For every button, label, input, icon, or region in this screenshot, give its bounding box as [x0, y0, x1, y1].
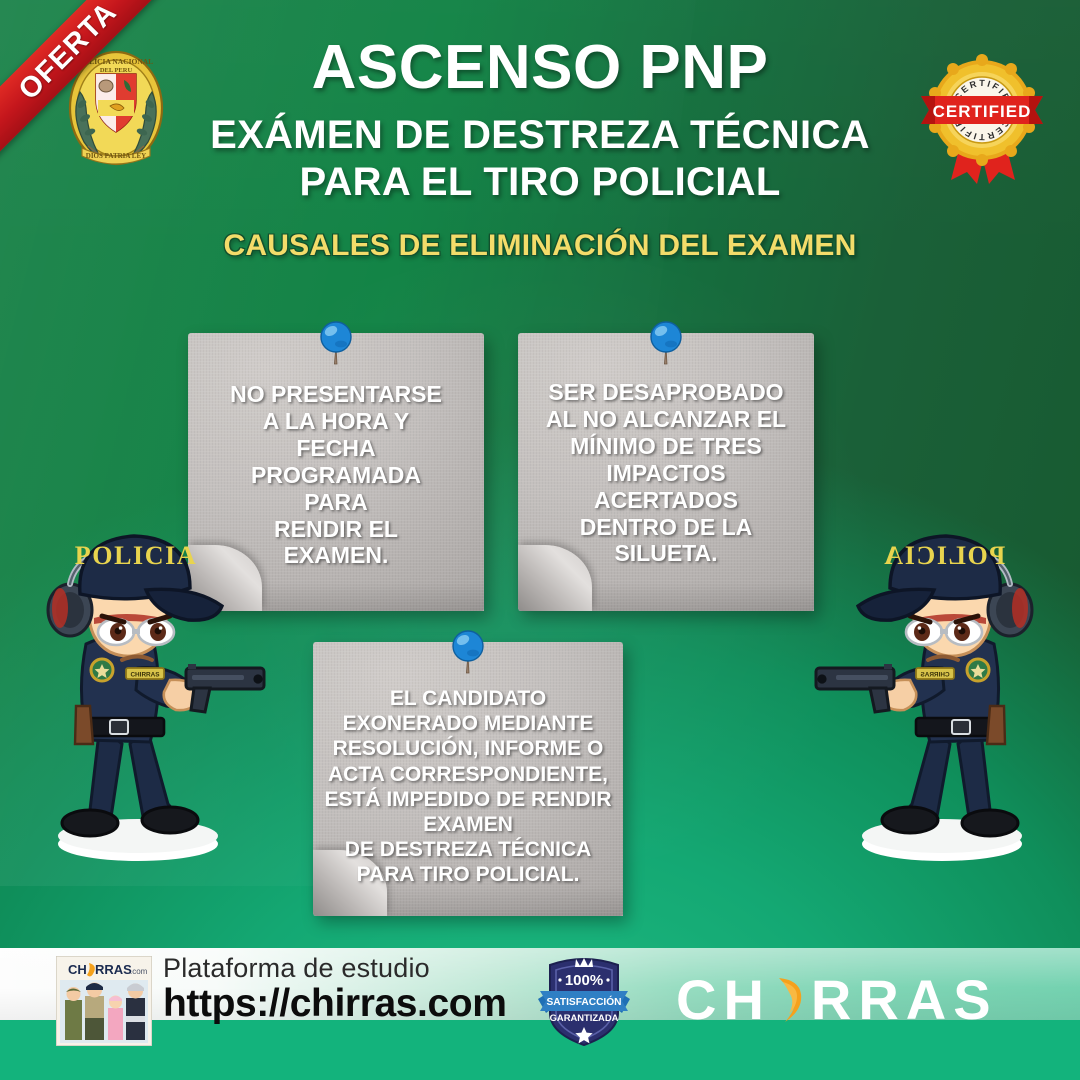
- figure-soldier: [65, 987, 82, 1040]
- figure-firefighter: [126, 984, 145, 1041]
- brand-text-part-2: RRAS: [811, 972, 998, 1028]
- thumb-brand-text-2: RRAS: [95, 962, 132, 977]
- blue-pushpin-icon: [646, 320, 686, 366]
- satisfaction-guarantee-badge-icon: 100% SATISFACCIÓN GARANTIZADA: [536, 947, 632, 1047]
- figure-police: [85, 983, 104, 1041]
- footer-url[interactable]: https://chirras.com: [163, 984, 506, 1024]
- subtitle-line-2: PARA EL TIRO POLICIAL: [150, 160, 930, 205]
- thumb-brand-text: CH: [68, 962, 87, 977]
- officer-name-tag: CHIRRAS: [130, 672, 160, 679]
- footer-tagline: Plataforma de estudio: [163, 955, 506, 982]
- footer-text-block: Plataforma de estudio https://chirras.co…: [163, 955, 506, 1024]
- section-label: CAUSALES DE ELIMINACIÓN DEL EXAMEN: [150, 229, 930, 263]
- certified-badge-icon: CERTIFIED CERTIFIED CERTIFIED: [915, 48, 1050, 193]
- blue-pushpin-icon: [316, 320, 356, 366]
- emblem-ring-inner: DEL PERU: [100, 67, 133, 74]
- chirras-thumbnail-logo[interactable]: CH RRAS .com: [56, 956, 152, 1046]
- note-bottom-shade: [375, 886, 623, 916]
- guarantee-line-2: GARANTIZADA: [550, 1012, 619, 1023]
- officer-name-tag: CHIRRAS: [920, 672, 950, 679]
- guarantee-percent: 100%: [565, 972, 603, 989]
- chirras-flame-icon: [773, 972, 809, 1028]
- police-officer-shooter-right: CHIRRAS POLICIA: [812, 492, 1062, 862]
- note-2-text: SER DESAPROBADO AL NO ALCANZAR EL MÍNIMO…: [518, 333, 814, 567]
- thumb-tld-text: .com: [130, 967, 148, 976]
- guarantee-line-1: SATISFACCIÓN: [546, 995, 621, 1008]
- note-3-text: EL CANDIDATO EXONERADO MEDIANTE RESOLUCI…: [313, 642, 623, 888]
- brand-text-part-1: CH: [676, 972, 771, 1028]
- emblem-banner-text: DIOS PATRIA LEY: [86, 152, 146, 160]
- note-bottom-shade: [580, 581, 814, 611]
- police-officer-shooter-left: CHIRRAS: [18, 492, 268, 862]
- officer-cap-text: POLICIA: [75, 541, 197, 570]
- note-bottom-shade: [250, 581, 484, 611]
- sticky-note-2: SER DESAPROBADO AL NO ALCANZAR EL MÍNIMO…: [518, 333, 814, 611]
- pistol-icon: [816, 664, 894, 712]
- sticky-note-3: EL CANDIDATO EXONERADO MEDIANTE RESOLUCI…: [313, 642, 623, 916]
- figure-nurse: [108, 996, 123, 1041]
- poster-root: OFERTA: [0, 0, 1080, 1080]
- page-title: ASCENSO PNP: [150, 36, 930, 99]
- chirras-wordmark: CH RRAS: [676, 972, 998, 1028]
- blue-pushpin-icon: [448, 629, 488, 675]
- subtitle-line-1: EXÁMEN DE DESTREZA TÉCNICA: [150, 113, 930, 158]
- pistol-icon: [186, 664, 264, 712]
- certified-label-text: CERTIFIED: [933, 102, 1032, 121]
- officer-cap-text: POLICIA: [883, 541, 1005, 570]
